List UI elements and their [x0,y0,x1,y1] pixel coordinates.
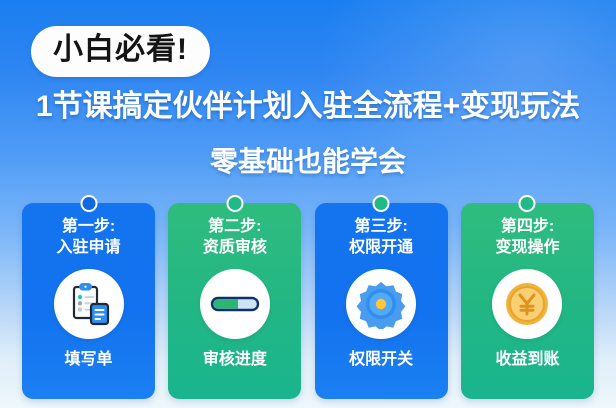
step-card-3[interactable]: 第三步: 权限开通 权限开关 [315,203,448,399]
step-card-3-icon-circle [346,269,416,339]
step-card-4-title: 变现操作 [495,238,559,258]
step-card-list: 第一步: 入驻申请 [22,203,594,399]
step-card-1[interactable]: 第一步: 入驻申请 [22,203,155,399]
attention-badge: 小白必看! [31,26,210,77]
step-card-2-title: 资质审核 [203,238,267,258]
clipboard-form-icon [65,280,113,328]
step-card-3-caption: 权限开关 [349,352,413,368]
step-card-2-step-label: 第二步: [208,217,261,237]
promo-poster: 小白必看! 1节课搞定伙伴计划入驻全流程+变现玩法 零基础也能学会 第一步: 入… [0,0,616,408]
step-marker-dot-icon [80,195,97,212]
step-card-4-caption: 收益到账 [495,352,559,368]
step-card-4-icon-circle [492,269,562,339]
yuan-coin-icon [504,281,550,327]
step-card-1-icon-circle [54,269,124,339]
step-card-4-step-label: 第四步: [501,217,554,237]
step-card-3-title: 权限开通 [349,238,413,258]
step-card-2-caption: 审核进度 [203,352,267,368]
step-card-1-title: 入驻申请 [56,238,120,258]
step-marker-dot-icon [373,195,390,212]
step-card-1-step-label: 第一步: [62,217,115,237]
step-card-1-caption: 填写单 [64,352,112,368]
poster-headline: 1节课搞定伙伴计划入驻全流程+变现玩法 [0,92,616,122]
badge-row: 小白必看! [31,26,210,77]
step-card-2-icon-circle [200,269,270,339]
step-marker-dot-icon [519,195,536,212]
step-card-4[interactable]: 第四步: 变现操作 收益到账 [461,203,594,399]
gear-settings-icon [356,279,406,329]
poster-subheadline: 零基础也能学会 [0,148,616,176]
progress-bar-icon [209,278,261,330]
step-card-2[interactable]: 第二步: 资质审核 审核进度 [168,203,301,399]
step-marker-dot-icon [226,195,243,212]
step-card-3-step-label: 第三步: [354,217,407,237]
